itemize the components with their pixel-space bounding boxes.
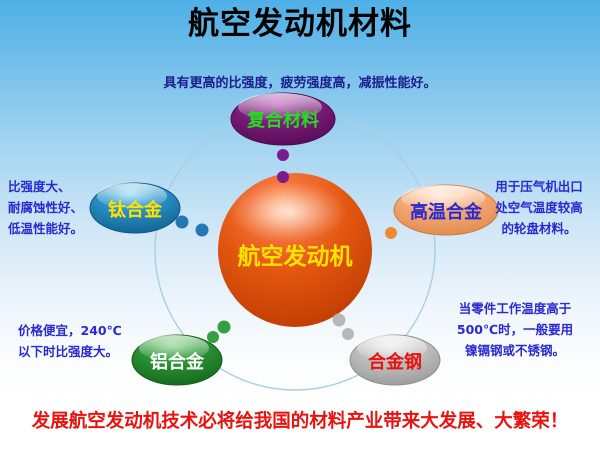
note-superalloy-line-3: 的轮盘材料。 [483,218,595,239]
note-superalloy-line-1: 用于压气机出口 [483,176,595,197]
note-aluminium-line-2: 以下时比强度大。 [18,341,122,362]
note-titanium-line-2: 耐腐蚀性好、 [8,197,83,218]
note-superalloy-line-2: 处空气温度较高 [483,197,595,218]
connector-dots-steel [333,314,355,341]
node-titanium[interactable] [90,183,180,233]
node-composite[interactable] [231,93,335,145]
note-titanium: 比强度大、 耐腐蚀性好、 低温性能好。 [8,176,83,239]
note-titanium-line-3: 低温性能好。 [8,218,83,239]
note-titanium-line-1: 比强度大、 [8,176,83,197]
node-steel[interactable] [350,335,440,385]
note-steel-line-3: 镍镉钢或不锈钢。 [437,340,593,361]
slide-canvas: 航空发动机材料 具有更高的比强度，疲劳强度高，减振性能好。 [0,0,600,450]
note-superalloy: 用于压气机出口 处空气温度较高 的轮盘材料。 [483,176,595,239]
note-steel-line-1: 当零件工作温度高于 [437,298,593,319]
note-aluminium-line-1: 价格便宜，240℃ [18,320,122,341]
footer-slogan: 发展航空发动机技术必将给我国的材料产业带来大发展、大繁荣！ [0,407,600,433]
connector-dots-aluminium [207,321,231,344]
connector-dots-titanium [176,216,209,237]
center-node-sphere[interactable] [218,173,372,327]
note-steel-line-2: 500℃时，一般要用 [437,319,593,340]
note-aluminium: 价格便宜，240℃ 以下时比强度大。 [18,320,122,362]
note-steel: 当零件工作温度高于 500℃时，一般要用 镍镉钢或不锈钢。 [437,298,593,361]
connector-dots-composite [277,149,289,183]
node-aluminium[interactable] [132,335,222,385]
